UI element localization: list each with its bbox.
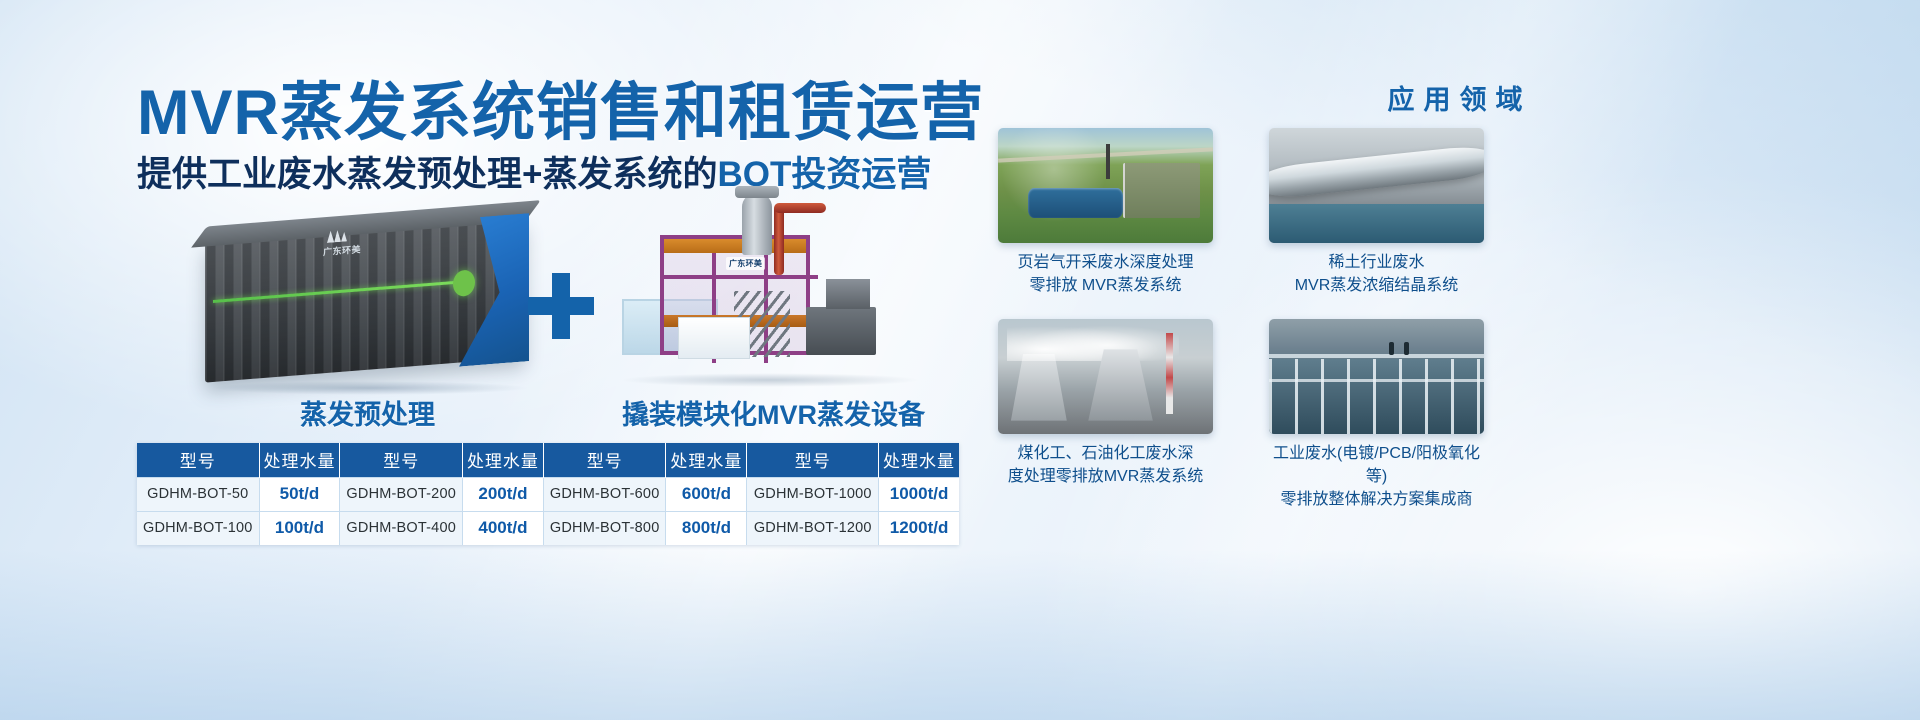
white-tank xyxy=(678,317,750,359)
table-header-cell: 型号 xyxy=(747,443,879,477)
applications-column: 应用领域 页岩气开采废水深度处理 零排放 MVR蒸发系统 稀土行业废水 MVR蒸… xyxy=(990,0,1920,720)
model-cell: GDHM-BOT-50 xyxy=(137,477,259,511)
evaporation-pretreatment-unit-image: 广东环美 xyxy=(205,217,525,382)
model-cell: GDHM-BOT-100 xyxy=(137,511,259,545)
table-header-cell: 处理水量 xyxy=(462,443,543,477)
table-header-cell: 处理水量 xyxy=(879,443,959,477)
subheadline-prefix: 提供工业废水蒸发预处理+蒸发系统的 xyxy=(137,155,717,194)
promotional-banner: MVR蒸发系统销售和租赁运营 提供工业废水蒸发预处理+蒸发系统的BOT投资运营 … xyxy=(0,0,1920,720)
model-cell: GDHM-BOT-1200 xyxy=(747,511,879,545)
application-card-rare-earth: 稀土行业废水 MVR蒸发浓缩结晶系统 xyxy=(1269,128,1484,297)
capacity-cell: 1200t/d xyxy=(879,511,959,545)
subheadline: 提供工业废水蒸发预处理+蒸发系统的BOT投资运营 xyxy=(137,146,931,197)
left-content-column: MVR蒸发系统销售和租赁运营 提供工业废水蒸发预处理+蒸发系统的BOT投资运营 … xyxy=(0,0,990,720)
right-product-caption: 撬装模块化MVR蒸发设备 xyxy=(622,393,925,432)
table-header-cell: 处理水量 xyxy=(666,443,747,477)
capacity-cell: 400t/d xyxy=(462,511,543,545)
shale-gas-wellfield-photo xyxy=(998,128,1213,243)
model-cell: GDHM-BOT-600 xyxy=(543,477,666,511)
plus-icon xyxy=(528,273,594,339)
orange-deck-upper xyxy=(664,239,806,253)
model-cell: GDHM-BOT-1000 xyxy=(747,477,879,511)
red-horizontal-pipe xyxy=(774,203,826,213)
application-card-shale-gas: 页岩气开采废水深度处理 零排放 MVR蒸发系统 xyxy=(998,128,1213,297)
capacity-cell: 100t/d xyxy=(259,511,340,545)
table-row: GDHM-BOT-100 100t/d GDHM-BOT-400 400t/d … xyxy=(137,511,959,545)
wastewater-treatment-tanks-photo xyxy=(1269,319,1484,434)
application-caption: 稀土行业废水 MVR蒸发浓缩结晶系统 xyxy=(1269,252,1484,297)
pipeline-channel-photo xyxy=(1269,128,1484,243)
table-header-cell: 处理水量 xyxy=(259,443,340,477)
application-card-industrial-wastewater: 工业废水(电镀/PCB/阳极氧化等) 零排放整体解决方案集成商 xyxy=(1269,319,1484,511)
table-header-cell: 型号 xyxy=(137,443,259,477)
grey-equipment-box xyxy=(806,307,876,355)
coal-chemical-plant-photo xyxy=(998,319,1213,434)
applications-grid: 页岩气开采废水深度处理 零排放 MVR蒸发系统 稀土行业废水 MVR蒸发浓缩结晶… xyxy=(998,128,1558,512)
red-vertical-pipe xyxy=(774,205,784,275)
table-header-cell: 型号 xyxy=(340,443,463,477)
capacity-cell: 1000t/d xyxy=(879,477,959,511)
capacity-cell: 200t/d xyxy=(462,477,543,511)
specification-table: 型号 处理水量 型号 处理水量 型号 处理水量 型号 处理水量 GDHM-BOT… xyxy=(137,443,959,545)
skid-brand-label: 广东环美 xyxy=(726,257,765,270)
table-row: GDHM-BOT-50 50t/d GDHM-BOT-200 200t/d GD… xyxy=(137,477,959,511)
application-card-coal-chemical: 煤化工、石油化工废水深 度处理零排放MVR蒸发系统 xyxy=(998,319,1213,511)
application-caption: 煤化工、石油化工废水深 度处理零排放MVR蒸发系统 xyxy=(998,443,1213,488)
capacity-cell: 600t/d xyxy=(666,477,747,511)
table-header-row: 型号 处理水量 型号 处理水量 型号 处理水量 型号 处理水量 xyxy=(137,443,959,477)
applications-title: 应用领域 xyxy=(990,78,1920,117)
model-cell: GDHM-BOT-200 xyxy=(340,477,463,511)
application-caption: 工业废水(电镀/PCB/阳极氧化等) 零排放整体解决方案集成商 xyxy=(1269,443,1484,511)
model-cell: GDHM-BOT-400 xyxy=(340,511,463,545)
skid-shadow xyxy=(620,373,920,387)
capacity-cell: 800t/d xyxy=(666,511,747,545)
table-header-cell: 型号 xyxy=(543,443,666,477)
application-caption: 页岩气开采废水深度处理 零排放 MVR蒸发系统 xyxy=(998,252,1213,297)
skid-mounted-mvr-evaporator-image: 广东环美 xyxy=(630,195,930,385)
left-product-caption: 蒸发预处理 xyxy=(300,393,435,432)
grey-equipment-box-small xyxy=(826,279,870,309)
capacity-cell: 50t/d xyxy=(259,477,340,511)
model-cell: GDHM-BOT-800 xyxy=(543,511,666,545)
evaporator-column xyxy=(742,193,772,255)
headline: MVR蒸发系统销售和租赁运营 xyxy=(137,62,984,153)
product-illustrations: 广东环美 xyxy=(150,205,950,425)
